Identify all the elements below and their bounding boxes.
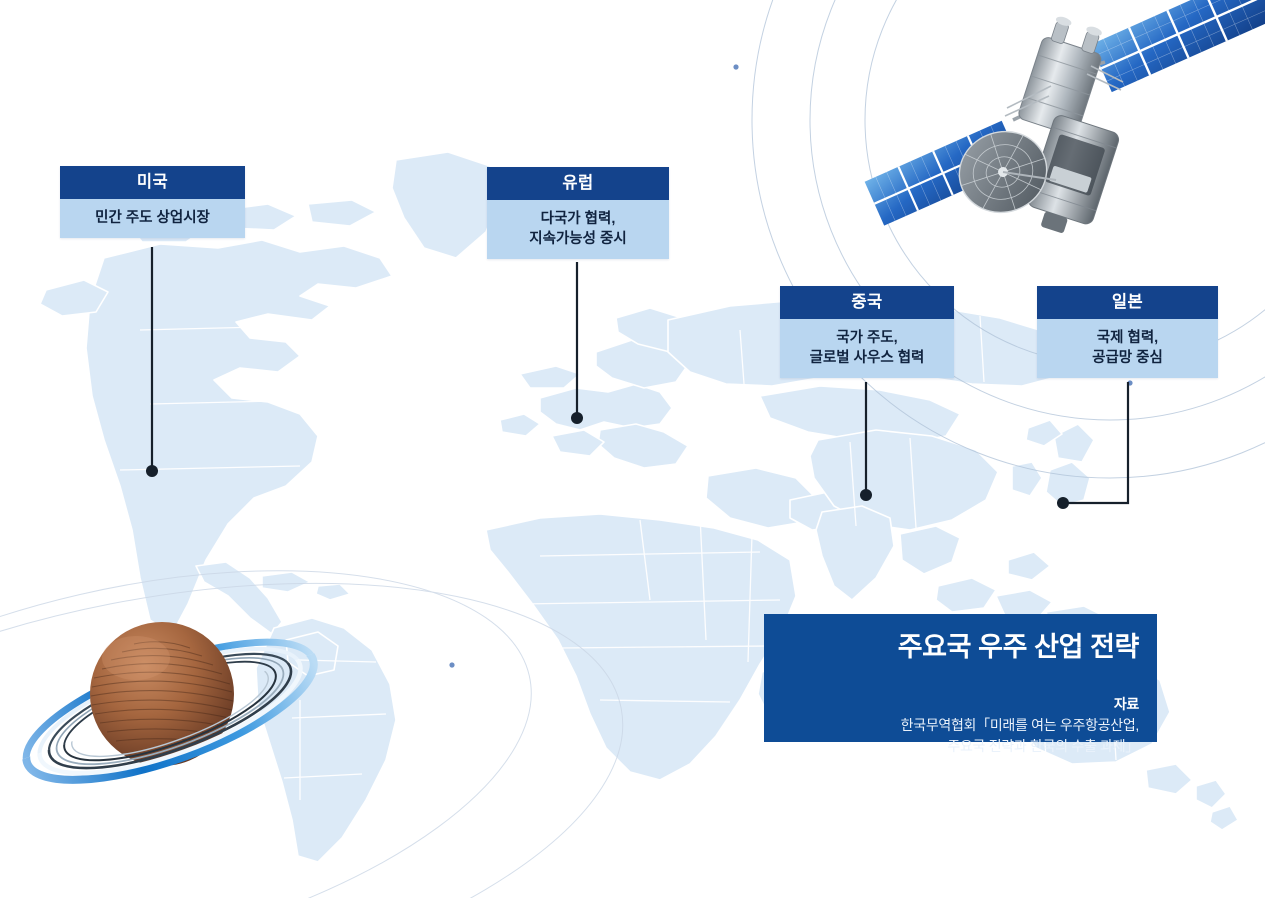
region-card-jp[interactable]: 일본 국제 협력, 공급망 중심 — [1037, 286, 1218, 378]
region-card-eu-title: 유럽 — [487, 167, 669, 200]
marker-dot-jp — [1057, 497, 1069, 509]
infographic-title: 주요국 우주 산업 전략 — [764, 630, 1139, 664]
title-block: 주요국 우주 산업 전략 자료 한국무역협회「미래를 여는 우주항공산업, 주요… — [764, 614, 1157, 742]
region-card-us[interactable]: 미국 민간 주도 상업시장 — [60, 166, 245, 238]
connector-lines — [0, 0, 1265, 898]
marker-dot-eu — [571, 412, 583, 424]
world-map — [0, 0, 1265, 898]
region-card-us-strategy: 민간 주도 상업시장 — [60, 199, 245, 238]
orbit-arcs — [0, 0, 1265, 898]
marker-dot-cn — [860, 489, 872, 501]
region-card-eu-strategy: 다국가 협력, 지속가능성 중시 — [487, 200, 669, 259]
region-card-jp-title: 일본 — [1037, 286, 1218, 319]
source-text: 한국무역협회「미래를 여는 우주항공산업, 주요국 전략과 한국의 수출 과제」 — [901, 717, 1139, 754]
source-note: 자료 한국무역협회「미래를 여는 우주항공산업, 주요국 전략과 한국의 수출 … — [764, 673, 1139, 757]
region-card-eu[interactable]: 유럽 다국가 협력, 지속가능성 중시 — [487, 167, 669, 259]
marker-dot-us — [146, 465, 158, 477]
region-card-us-title: 미국 — [60, 166, 245, 199]
region-card-jp-strategy: 국제 협력, 공급망 중심 — [1037, 319, 1218, 378]
region-card-cn[interactable]: 중국 국가 주도, 글로벌 사우스 협력 — [780, 286, 954, 378]
source-label: 자료 — [1114, 696, 1139, 712]
satellite-icon — [855, 0, 1265, 260]
region-card-cn-title: 중국 — [780, 286, 954, 319]
infographic-canvas: 미국 민간 주도 상업시장 유럽 다국가 협력, 지속가능성 중시 중국 국가 … — [0, 0, 1265, 898]
ringed-planet-icon — [10, 586, 350, 836]
region-card-cn-strategy: 국가 주도, 글로벌 사우스 협력 — [780, 319, 954, 378]
connector-jp — [1063, 382, 1128, 503]
